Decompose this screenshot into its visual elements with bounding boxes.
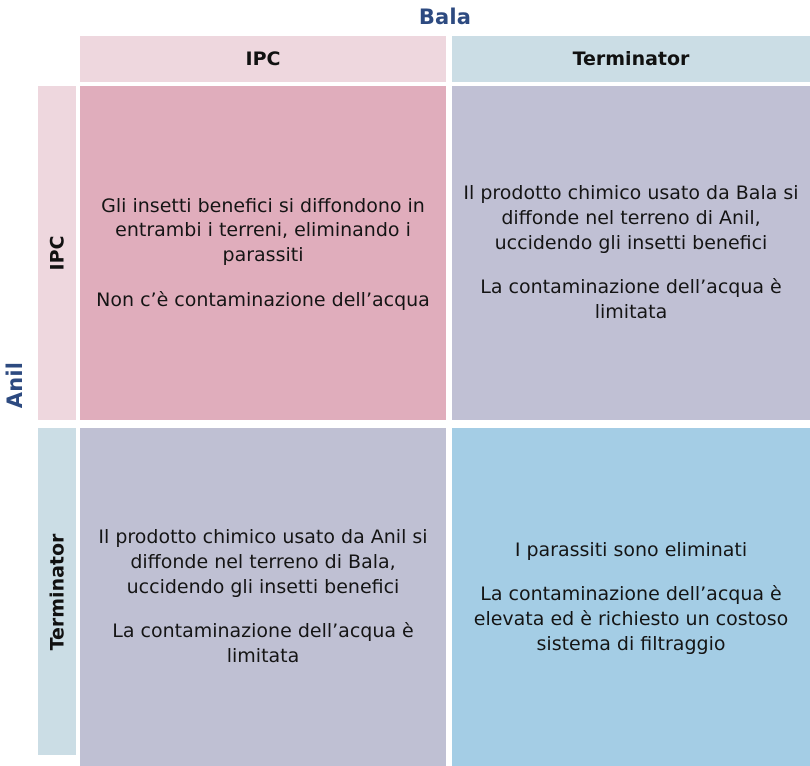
cell-ipc-terminator: Il prodotto chimico usato da Bala si dif… [452,86,810,420]
column-header-ipc: IPC [80,36,446,82]
cell-terminator-terminator-line-2: La contaminazione dell’acqua è elevata e… [462,582,800,656]
cell-terminator-ipc-line-2: La contaminazione dell’acqua è limitata [94,619,432,668]
cell-terminator-ipc: Il prodotto chimico usato da Anil si dif… [80,428,446,766]
cell-terminator-ipc-line-1: Il prodotto chimico usato da Anil si dif… [94,525,432,599]
row-header-ipc: IPC [38,86,76,420]
row-header-terminator-label: Terminator [46,533,68,650]
cell-terminator-terminator-line-1: I parassiti sono eliminati [515,538,747,563]
cell-ipc-ipc-line-1: Gli insetti benefici si diffondono in en… [94,194,432,268]
cell-ipc-terminator-line-2: La contaminazione dell’acqua è limitata [462,275,800,324]
cell-ipc-terminator-line-1: Il prodotto chimico usato da Bala si dif… [462,181,800,255]
row-header-ipc-label: IPC [46,236,68,271]
column-axis-title: Bala [80,2,810,32]
payoff-matrix: Bala Anil IPC Terminator IPC Terminator … [0,0,810,766]
column-header-terminator: Terminator [452,36,810,82]
cell-terminator-terminator: I parassiti sono eliminati La contaminaz… [452,428,810,766]
cell-ipc-ipc: Gli insetti benefici si diffondono in en… [80,86,446,420]
cell-ipc-ipc-line-2: Non c’è contaminazione dell’acqua [96,288,430,313]
row-axis-title: Anil [0,352,30,418]
row-header-terminator: Terminator [38,428,76,755]
